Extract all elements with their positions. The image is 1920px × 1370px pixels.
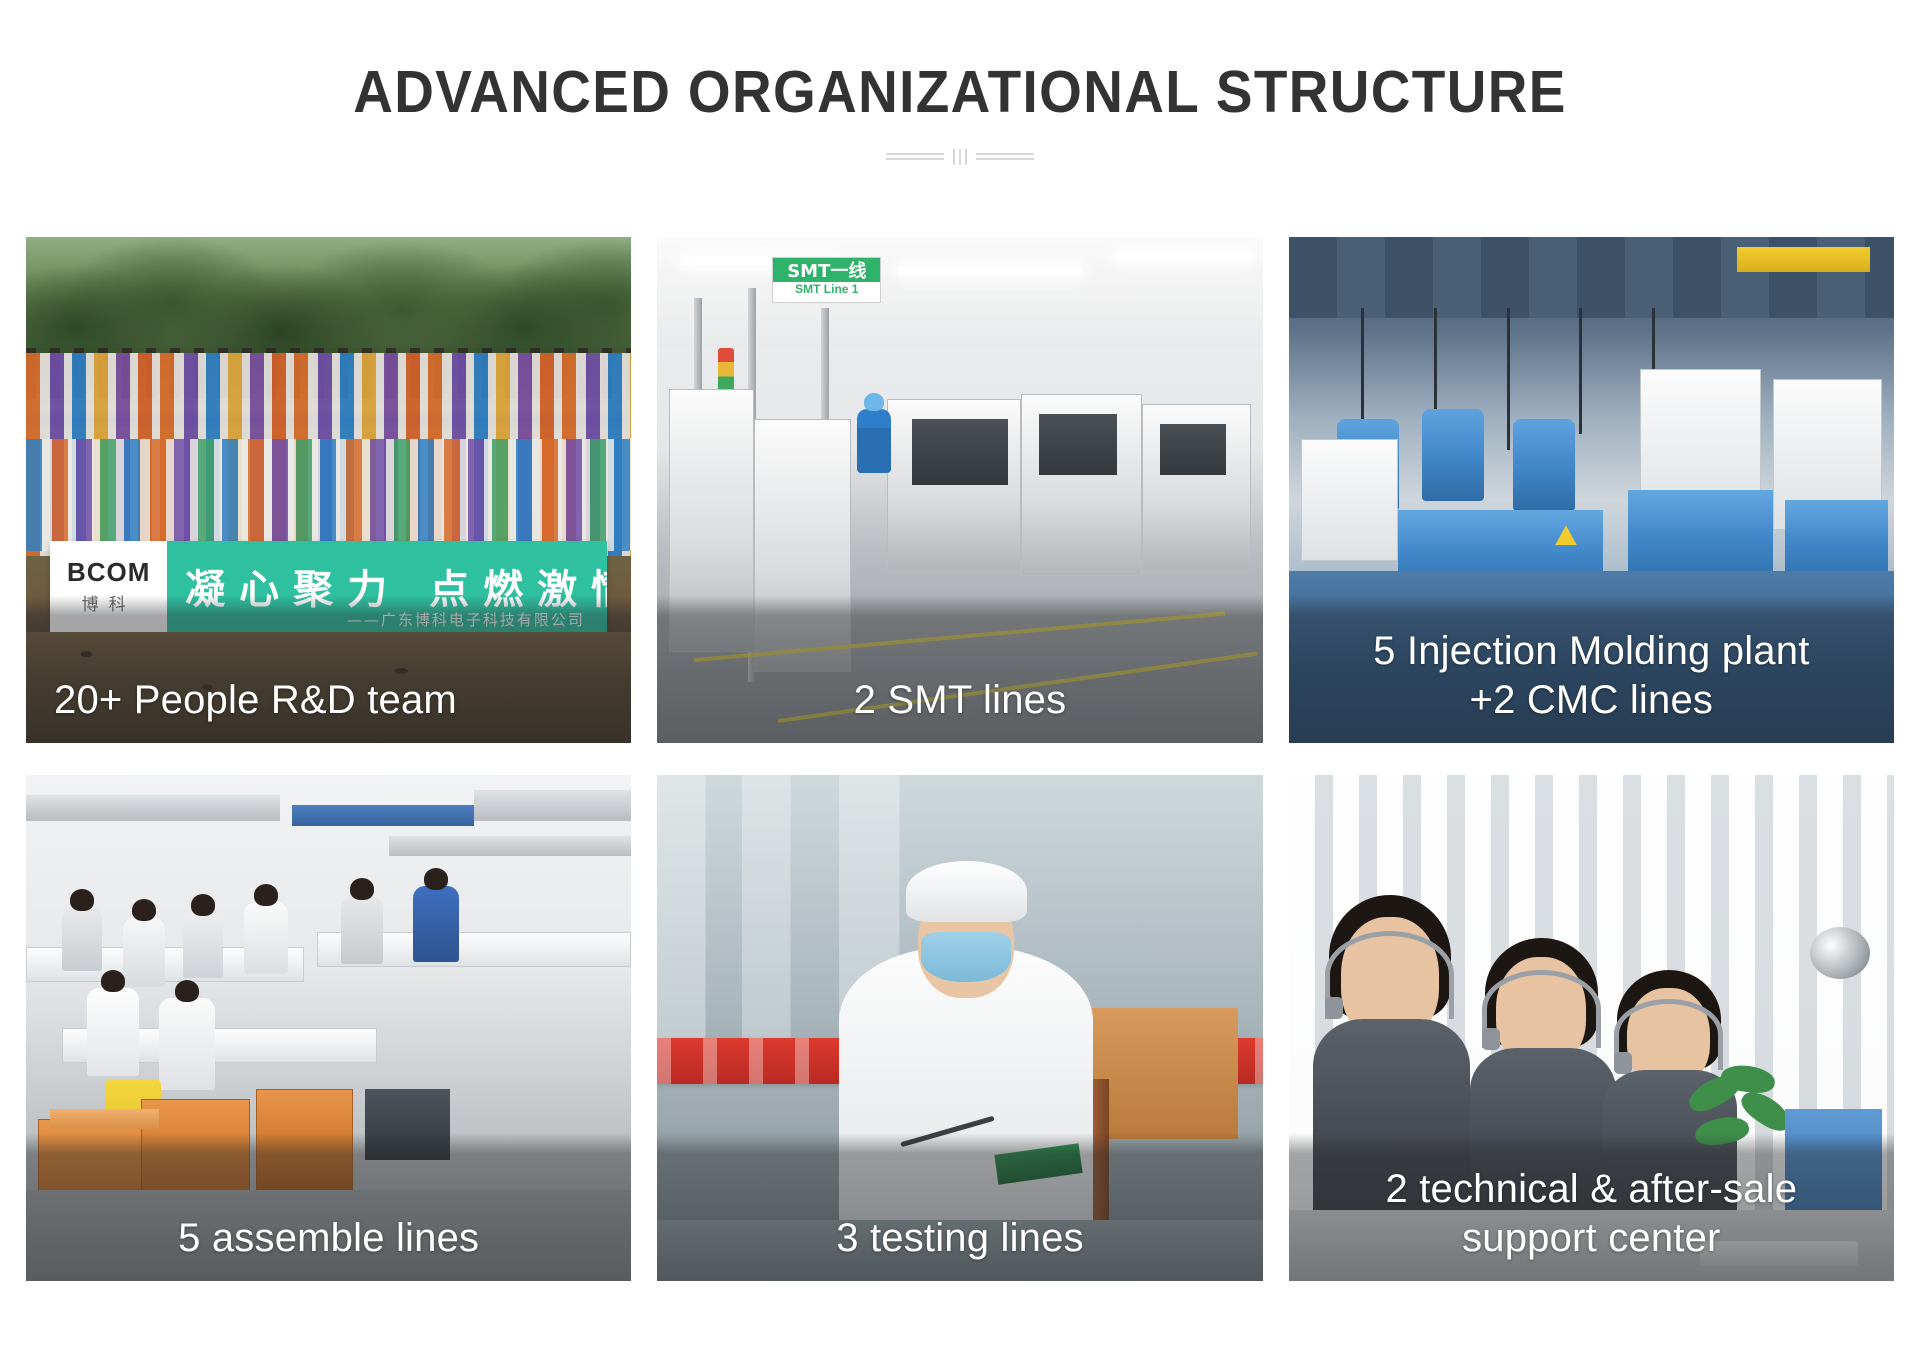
card-smt-lines[interactable]: SMT一线 SMT Line 1 — [657, 237, 1262, 743]
worker-8 — [159, 998, 215, 1090]
scene-smt-line: SMT一线 SMT Line 1 — [657, 237, 1262, 743]
bcom-logo-cn: 博科 — [82, 590, 136, 615]
shelf-blue-rail — [292, 805, 474, 825]
card-support-center[interactable]: 2 technical & after-sale support center — [1289, 775, 1894, 1281]
desk-lamp — [1810, 927, 1870, 979]
machine-left — [669, 389, 754, 652]
machine-screen-1 — [912, 419, 1009, 485]
card-testing-lines[interactable]: 3 testing lines — [657, 775, 1262, 1281]
crowd-row-front — [26, 439, 631, 550]
cable-4 — [1579, 308, 1582, 435]
technician-cap — [906, 861, 1027, 922]
carton-box-3 — [256, 1089, 353, 1190]
agent-1-headset-icon — [1325, 931, 1454, 1018]
photo-smt-lines: SMT一线 SMT Line 1 — [657, 237, 1262, 743]
page-header: ADVANCED ORGANIZATIONAL STRUCTURE — [0, 0, 1920, 168]
page-title: ADVANCED ORGANIZATIONAL STRUCTURE — [67, 62, 1853, 124]
smt-sign-line2: SMT Line 1 — [795, 281, 858, 298]
worker-1 — [62, 907, 102, 971]
caption-line-1: 2 technical & after-sale — [1385, 1167, 1797, 1211]
molding-machine-white-1 — [1301, 439, 1398, 560]
banner-slogan: 凝心聚力 点燃激情 — [167, 557, 607, 615]
slide-page: ADVANCED ORGANIZATIONAL STRUCTURE — [0, 0, 1920, 1370]
scene-assembly-benches — [26, 775, 631, 1281]
card-injection-molding[interactable]: 5 Injection Molding plant +2 CMC lines — [1289, 237, 1894, 743]
scene-qc-testing — [657, 775, 1262, 1281]
photo-testing-lines — [657, 775, 1262, 1281]
cable-3 — [1507, 308, 1510, 450]
card-caption-assemble-lines: 5 assemble lines — [26, 1214, 631, 1281]
divider-bar-2 — [959, 149, 961, 165]
material-hopper-3 — [1513, 419, 1575, 511]
divider-line-left — [886, 153, 944, 160]
agent-1-earcup — [1325, 997, 1343, 1019]
ceiling-light-3 — [1117, 252, 1250, 260]
card-caption-smt-lines: 2 SMT lines — [657, 676, 1262, 743]
worker-4 — [244, 902, 288, 974]
card-rd-team[interactable]: BCOM 博科 凝心聚力 点燃激情 ——广东博科电子科技有限公司 20+ Peo… — [26, 237, 631, 743]
smt-operator — [857, 409, 891, 473]
shelf-mid-right — [389, 836, 631, 856]
divider-bars — [953, 149, 967, 165]
divider-bar-1 — [953, 149, 955, 165]
agent-2-earcup — [1482, 1028, 1500, 1050]
worker-7 — [87, 988, 139, 1076]
photo-rd-team: BCOM 博科 凝心聚力 点燃激情 ——广东博科电子科技有限公司 — [26, 237, 631, 743]
card-caption-injection-molding: 5 Injection Molding plant +2 CMC lines — [1289, 627, 1894, 743]
divider-bar-3 — [965, 149, 967, 165]
ceiling-light-2 — [899, 267, 1081, 275]
tote-bin-dark — [365, 1089, 450, 1160]
bcom-logo: BCOM 博科 — [50, 557, 167, 615]
scene-team-photo: BCOM 博科 凝心聚力 点燃激情 ——广东博科电子科技有限公司 — [26, 237, 631, 743]
capability-card-grid: BCOM 博科 凝心聚力 点燃激情 ——广东博科电子科技有限公司 20+ Peo… — [26, 237, 1894, 1281]
caption-line-1: 5 Injection Molding plant — [1373, 629, 1809, 673]
shelf-top-left — [26, 795, 280, 820]
smt-sign-line1: SMT一线 — [787, 263, 866, 281]
material-hopper-2 — [1422, 409, 1484, 501]
card-caption-testing-lines: 3 testing lines — [657, 1214, 1262, 1281]
banner-subtitle: ——广东博科电子科技有限公司 — [347, 609, 585, 630]
worker-6 — [413, 886, 459, 962]
card-caption-rd-team: 20+ People R&D team — [26, 676, 631, 743]
shelf-top-right — [474, 790, 631, 820]
divider-line-right — [976, 153, 1034, 160]
photo-assemble-lines — [26, 775, 631, 1281]
smt-line-sign: SMT一线 SMT Line 1 — [772, 257, 881, 303]
worker-2 — [123, 917, 165, 987]
caption-line-2: +2 CMC lines — [1470, 678, 1714, 722]
machine-screen-3 — [1160, 424, 1227, 475]
face-mask — [921, 932, 1012, 983]
worker-5 — [341, 896, 383, 964]
card-caption-support-center: 2 technical & after-sale support center — [1289, 1165, 1894, 1281]
plant-leaf-4 — [1693, 1114, 1751, 1149]
worker-3 — [183, 912, 223, 978]
machine-center-left — [754, 419, 851, 672]
bcom-logo-text: BCOM — [67, 557, 150, 588]
andon-tower-light — [718, 348, 734, 394]
ornament-divider-icon — [875, 146, 1045, 168]
overhead-crane-beam — [1737, 247, 1870, 272]
agent-3-earcup — [1614, 1052, 1632, 1074]
company-banner: BCOM 博科 凝心聚力 点燃激情 ——广东博科电子科技有限公司 — [50, 541, 607, 632]
card-assemble-lines[interactable]: 5 assemble lines — [26, 775, 631, 1281]
caption-line-2: support center — [1462, 1216, 1721, 1260]
machine-screen-2 — [1039, 414, 1118, 475]
carton-flap — [50, 1109, 159, 1129]
